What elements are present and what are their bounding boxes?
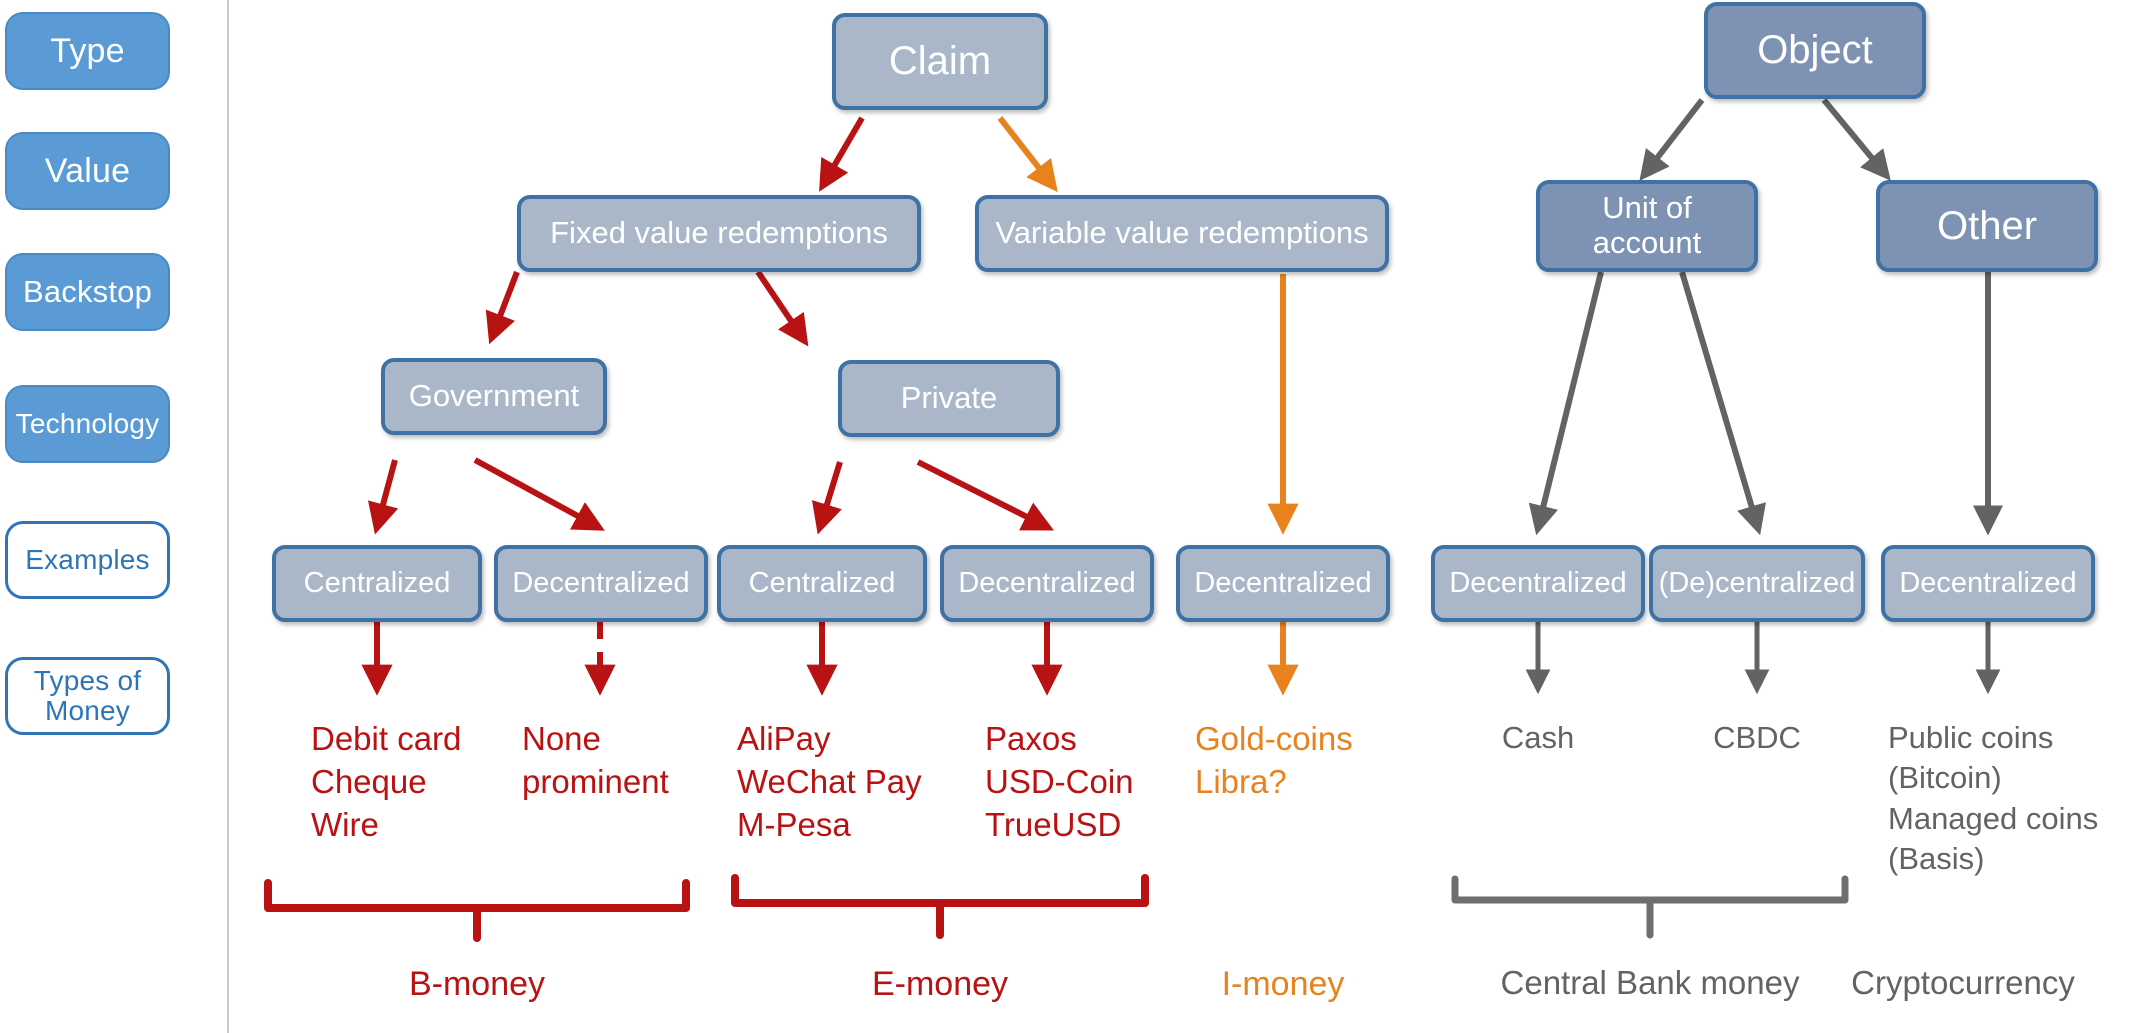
node-other-label: Other: [1937, 204, 2037, 249]
node-fixed-value-redemptions[interactable]: Fixed value redemptions: [517, 195, 921, 272]
row-label-technology[interactable]: Technology: [5, 385, 170, 463]
example-cash: Cash: [1502, 718, 1574, 758]
edge-unit-of-account-to-decentralized-2: [1682, 272, 1758, 528]
edge-unit-of-account-to-decentralized: [1538, 272, 1601, 528]
diagram-canvas: Type Value Backstop Technology Examples …: [0, 0, 2145, 1033]
node-tech-variable-decentralized-label: Decentralized: [1194, 567, 1371, 599]
money-type-i-money: I-money: [1222, 962, 1345, 1006]
node-variable-value-redemptions[interactable]: Variable value redemptions: [975, 195, 1389, 272]
brace-central-bank-money: [1455, 879, 1845, 935]
column-divider: [227, 0, 229, 1033]
edge-private-to-decentralized: [918, 462, 1047, 527]
example-b-money-decentralized: None prominent: [522, 718, 669, 804]
edge-fixed-value-to-private: [758, 272, 804, 340]
row-label-types-of-money-text: Types of Money: [34, 666, 141, 726]
node-claim-label: Claim: [889, 39, 991, 84]
row-label-examples[interactable]: Examples: [5, 521, 170, 599]
money-type-cryptocurrency: Cryptocurrency: [1851, 962, 2075, 1005]
node-tech-other-decentralized[interactable]: Decentralized: [1881, 545, 2095, 622]
row-label-type-text: Type: [50, 33, 125, 70]
row-label-value[interactable]: Value: [5, 132, 170, 210]
brace-b-money: [268, 883, 686, 938]
row-label-technology-text: Technology: [16, 409, 160, 439]
node-unit-of-account-label: Unit of account: [1593, 191, 1702, 260]
node-tech-uoa-decentralized-label: Decentralized: [1449, 567, 1626, 599]
row-label-examples-text: Examples: [25, 545, 150, 575]
node-claim[interactable]: Claim: [832, 13, 1048, 110]
node-tech-gov-decentralized-label: Decentralized: [512, 567, 689, 599]
node-tech-uoa-decentralized[interactable]: Decentralized: [1431, 545, 1645, 622]
node-tech-uoa-decentralized-2-label: (De)centralized: [1659, 567, 1856, 599]
edge-private-to-centralized: [820, 462, 840, 527]
example-b-money-centralized: Debit card Cheque Wire: [311, 718, 461, 847]
node-tech-priv-decentralized[interactable]: Decentralized: [940, 545, 1154, 622]
row-label-backstop-text: Backstop: [23, 275, 152, 308]
edge-object-to-other: [1824, 100, 1886, 175]
money-type-central-bank-money: Central Bank money: [1501, 962, 1800, 1005]
node-fixed-value-redemptions-label: Fixed value redemptions: [550, 216, 888, 251]
example-i-money: Gold-coins Libra?: [1195, 718, 1353, 804]
node-object[interactable]: Object: [1704, 2, 1926, 99]
node-tech-priv-decentralized-label: Decentralized: [958, 567, 1135, 599]
example-e-money-centralized: AliPay WeChat Pay M-Pesa: [737, 718, 922, 847]
row-label-types-of-money[interactable]: Types of Money: [5, 657, 170, 735]
money-type-e-money: E-money: [872, 962, 1008, 1006]
brace-e-money: [735, 878, 1145, 935]
edge-government-to-centralized: [377, 460, 395, 527]
node-tech-variable-decentralized[interactable]: Decentralized: [1176, 545, 1390, 622]
node-government[interactable]: Government: [381, 358, 607, 435]
node-tech-other-decentralized-label: Decentralized: [1899, 567, 2076, 599]
node-tech-gov-centralized[interactable]: Centralized: [272, 545, 482, 622]
example-cryptocurrency: Public coins (Bitcoin) Managed coins (Ba…: [1888, 718, 2098, 879]
row-label-value-text: Value: [45, 153, 130, 190]
edge-claim-to-variable-value: [1000, 118, 1053, 186]
money-type-b-money: B-money: [409, 962, 545, 1006]
edge-government-to-decentralized: [475, 460, 598, 527]
example-e-money-decentralized: Paxos USD-Coin TrueUSD: [985, 718, 1134, 847]
node-tech-uoa-decentralized-2[interactable]: (De)centralized: [1649, 545, 1865, 622]
edge-fixed-value-to-government: [492, 272, 517, 337]
node-tech-priv-centralized-label: Centralized: [749, 567, 896, 599]
row-label-type[interactable]: Type: [5, 12, 170, 90]
row-label-backstop[interactable]: Backstop: [5, 253, 170, 331]
edge-claim-to-fixed-value: [823, 118, 862, 185]
edge-object-to-unit-of-account: [1644, 100, 1702, 175]
node-government-label: Government: [409, 379, 580, 414]
node-tech-gov-decentralized[interactable]: Decentralized: [494, 545, 708, 622]
example-cbdc: CBDC: [1713, 718, 1801, 758]
node-private-label: Private: [901, 381, 997, 416]
connector-layer: [0, 0, 2145, 1033]
node-private[interactable]: Private: [838, 360, 1060, 437]
node-variable-value-redemptions-label: Variable value redemptions: [995, 216, 1368, 251]
node-other[interactable]: Other: [1876, 180, 2098, 272]
node-tech-gov-centralized-label: Centralized: [304, 567, 451, 599]
node-object-label: Object: [1757, 28, 1873, 73]
node-tech-priv-centralized[interactable]: Centralized: [717, 545, 927, 622]
node-unit-of-account[interactable]: Unit of account: [1536, 180, 1758, 272]
